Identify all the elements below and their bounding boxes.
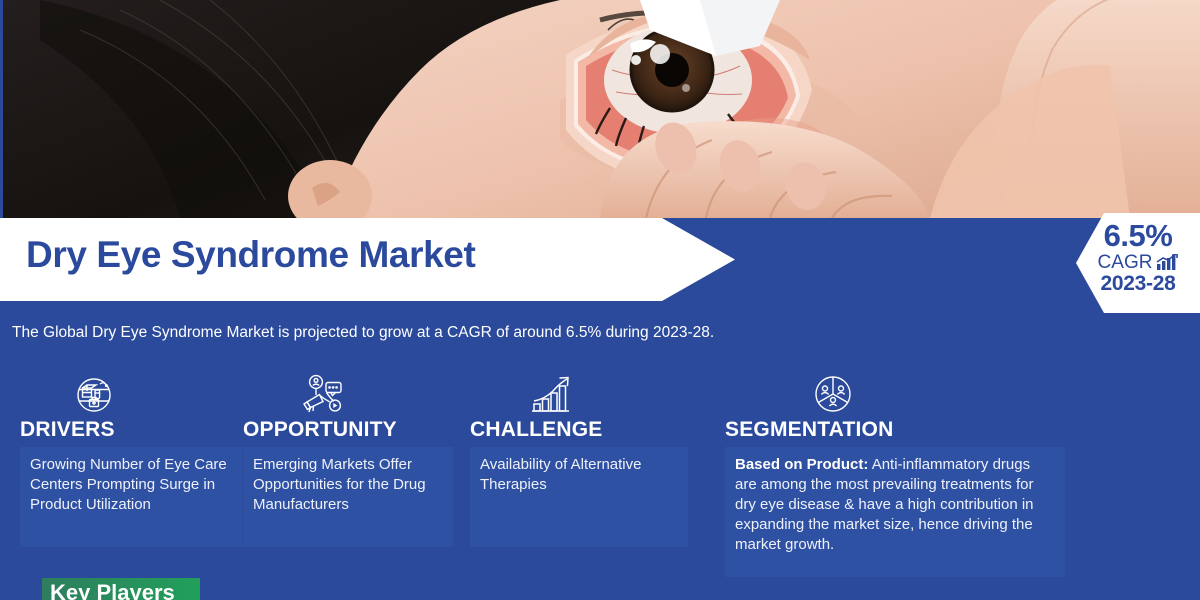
hero-photo-illustration [0,0,1200,218]
section-heading-drivers: DRIVERS [20,418,242,441]
section-heading-opportunity: OPPORTUNITY [243,418,453,441]
pie-people-segments-icon [785,370,881,416]
page-title: Dry Eye Syndrome Market [26,234,475,276]
cagr-percent: 6.5% [1076,220,1200,251]
hero-left-edge [0,0,3,218]
section-body-segmentation: Based on Product: Anti-inflammatory drug… [725,447,1065,577]
bar-chart-growth-icon [1156,254,1178,271]
section-heading-segmentation: SEGMENTATION [725,418,1065,441]
section-challenge: CHALLENGE Availability of Alternative Th… [470,370,688,547]
section-segmentation: SEGMENTATION Based on Product: Anti-infl… [725,370,1065,577]
section-opportunity: OPPORTUNITY Emerging Markets Offer Oppor… [243,370,453,547]
section-body-opportunity: Emerging Markets Offer Opportunities for… [243,447,453,547]
title-banner: Dry Eye Syndrome Market [0,218,735,301]
cagr-label-row: CAGR [1076,253,1200,272]
key-players-tab: Key Players [42,578,200,600]
cagr-label: CAGR [1098,253,1153,272]
section-body-challenge: Availability of Alternative Therapies [470,447,688,547]
bar-chart-arrow-icon [504,370,600,416]
section-heading-challenge: CHALLENGE [470,418,688,441]
subtitle-text: The Global Dry Eye Syndrome Market is pr… [12,324,714,342]
segmentation-lead: Based on Product: [735,456,868,473]
section-drivers: DRIVERS Growing Number of Eye Care Cente… [20,370,242,547]
globe-logistics-icon [46,370,142,416]
hero-photo [0,0,1200,218]
section-body-drivers: Growing Number of Eye Care Centers Promp… [20,447,242,547]
cagr-years: 2023-28 [1076,273,1200,294]
cagr-badge: 6.5% CAGR 2023-28 [1076,213,1200,313]
key-players-label: Key Players [50,580,175,600]
infographic-page: Dry Eye Syndrome Market 6.5% CAGR 2023-2… [0,0,1200,600]
megaphone-marketing-icon [275,370,371,416]
